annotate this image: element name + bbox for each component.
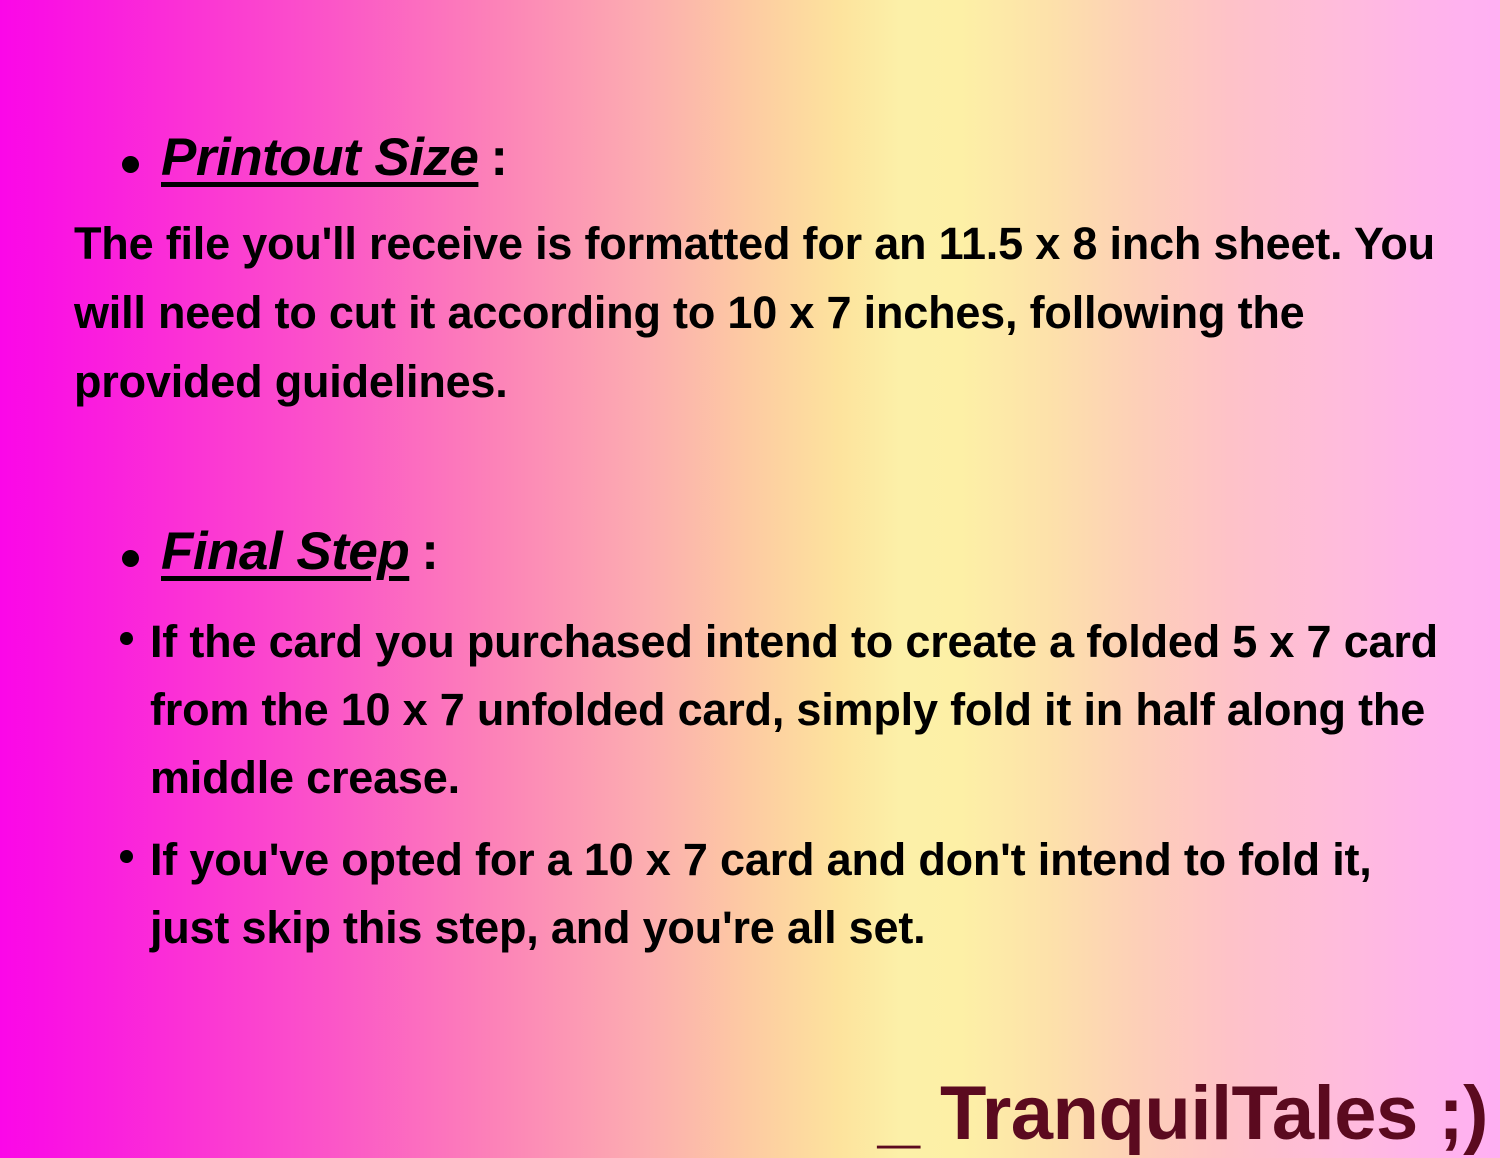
heading-final-step: Final Step: (122, 524, 438, 580)
heading-printout-size-text: Printout Size: (161, 130, 508, 186)
heading-printout-size: Printout Size: (122, 130, 508, 186)
paragraph-printout-size: The file you'll receive is formatted for… (74, 210, 1454, 417)
list-item-text: If the card you purchased intend to crea… (150, 608, 1460, 812)
heading-final-step-text: Final Step: (161, 524, 438, 580)
heading-final-step-colon: : (409, 522, 438, 581)
bullet-icon (120, 850, 133, 863)
poster-canvas: Printout Size: The file you'll receive i… (0, 0, 1500, 1158)
heading-printout-size-label: Printout Size (161, 128, 478, 187)
list-item-text: If you've opted for a 10 x 7 card and do… (150, 826, 1460, 962)
bullet-icon (122, 156, 139, 173)
bullet-icon (120, 632, 133, 645)
list-item: If the card you purchased intend to crea… (120, 608, 1460, 812)
heading-final-step-label: Final Step (161, 522, 409, 581)
poster-content: Printout Size: The file you'll receive i… (0, 0, 1500, 1158)
bullet-icon (122, 550, 139, 567)
list-item: If you've opted for a 10 x 7 card and do… (120, 826, 1460, 962)
final-step-list: If the card you purchased intend to crea… (120, 608, 1460, 976)
heading-printout-size-colon: : (478, 128, 507, 187)
signature: _ TranquilTales ;) (878, 1072, 1488, 1156)
